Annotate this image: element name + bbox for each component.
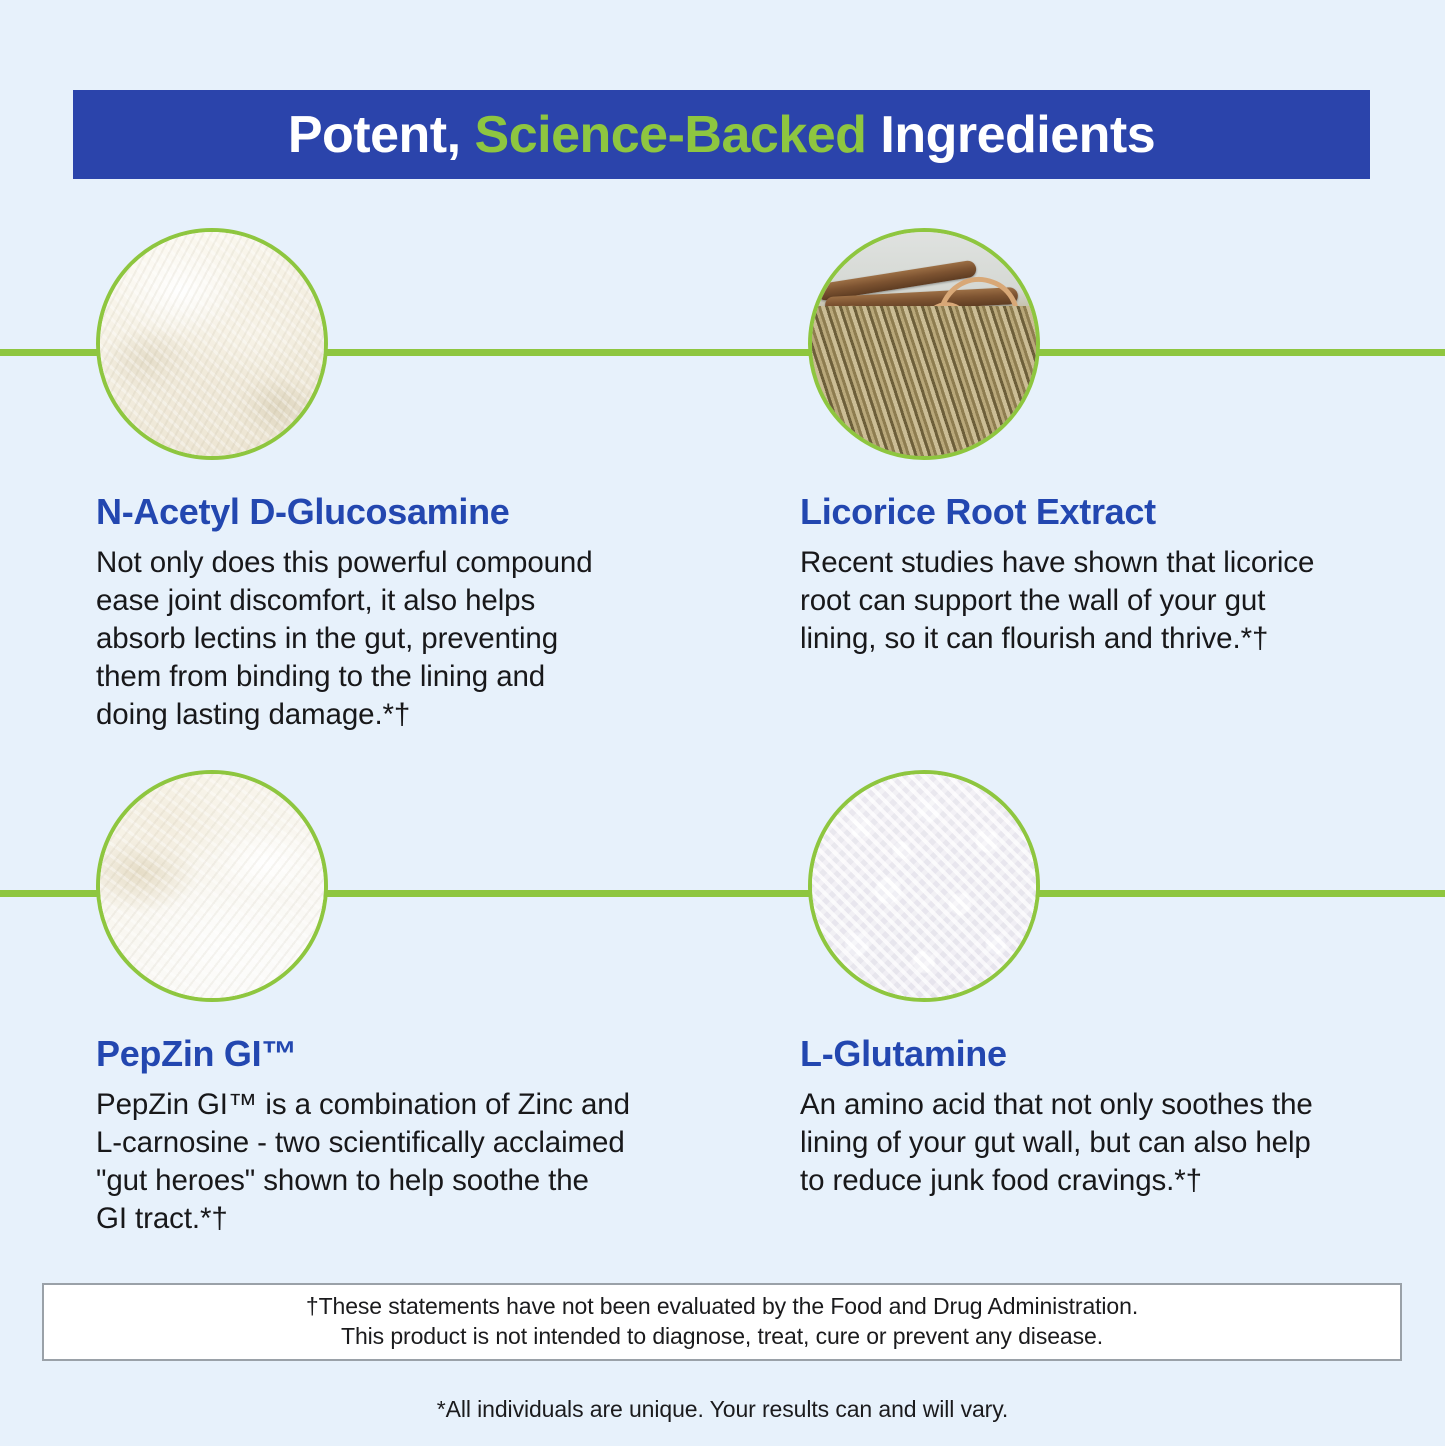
ingredient-card-n-acetyl-d-glucosamine: N-Acetyl D-Glucosamine Not only does thi… (96, 228, 736, 734)
l-glutamine-crystals-photo (808, 770, 1040, 1002)
ingredient-card-licorice-root-extract: Licorice Root Extract Recent studies hav… (800, 228, 1440, 658)
ingredient-description: PepZin GI™ is a combination of Zinc and … (96, 1086, 736, 1238)
ingredient-description: Recent studies have shown that licorice … (800, 544, 1440, 658)
ingredient-card-l-glutamine: L-Glutamine An amino acid that not only … (800, 770, 1440, 1200)
fda-disclaimer-box: †These statements have not been evaluate… (42, 1283, 1402, 1361)
ingredient-heading: PepZin GI™ (96, 1034, 736, 1074)
ingredient-heading: Licorice Root Extract (800, 492, 1440, 532)
ingredient-grid: N-Acetyl D-Glucosamine Not only does thi… (0, 0, 1445, 1446)
fda-disclaimer-line-1: †These statements have not been evaluate… (306, 1292, 1138, 1322)
ingredient-heading: L-Glutamine (800, 1034, 1440, 1074)
fda-disclaimer-line-2: This product is not intended to diagnose… (341, 1322, 1103, 1352)
licorice-root-extract-photo (808, 228, 1040, 460)
ingredient-description: An amino acid that not only soothes the … (800, 1086, 1440, 1200)
results-footnote: *All individuals are unique. Your result… (0, 1396, 1445, 1423)
ingredient-heading: N-Acetyl D-Glucosamine (96, 492, 736, 532)
n-acetyl-d-glucosamine-powder-photo (96, 228, 328, 460)
ingredient-card-pepzin-gi: PepZin GI™ PepZin GI™ is a combination o… (96, 770, 736, 1238)
ingredient-description: Not only does this powerful compound eas… (96, 544, 736, 734)
ingredients-infographic: Potent, Science-Backed Ingredients N-Ace… (0, 0, 1445, 1446)
pepzin-gi-powder-photo (96, 770, 328, 1002)
